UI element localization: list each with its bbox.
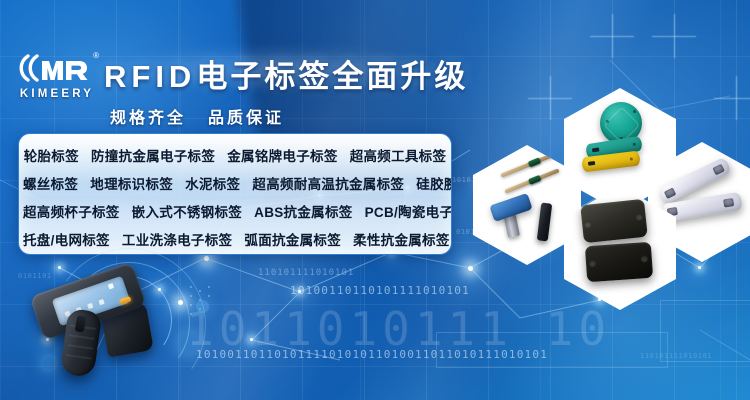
brand-wordmark: KIMEERY [14, 88, 100, 100]
sparkle-node [58, 266, 61, 269]
tag-item: 工业洗涤电子标签 [122, 233, 232, 248]
rf-wave-glint [178, 300, 183, 305]
product-tag-list-panel: 轮胎标签 防撞抗金属电子标签 金属铭牌电子标签 超高频工具标签 螺丝标签 地理标… [18, 133, 452, 255]
tag-chip [588, 161, 595, 166]
sparkle-node [698, 266, 701, 269]
tag-row: 轮胎标签 防撞抗金属电子标签 金属铭牌电子标签 超高频工具标签 [19, 143, 451, 171]
tag-row: 螺丝标签 地理标识标签 水泥标签 超高频耐高温抗金属标签 硅胶腕带 [19, 171, 451, 199]
glass-tag-core [528, 157, 541, 167]
tag-mount-hole [664, 187, 676, 199]
tag-item: 硅胶腕带 [416, 177, 452, 192]
tag-hole [630, 157, 633, 160]
grip-ridge [69, 334, 95, 340]
headline-cjk: 电子标签全面升级 [196, 59, 468, 94]
binary-strip-a: 1010011011010111101010110100110110101110… [196, 348, 548, 361]
tag-hole [633, 143, 636, 146]
tag-item: 轮胎标签 [24, 149, 79, 164]
binary-strip-c: 110101111010101 [258, 268, 354, 278]
rfid-promo-banner: 1011010111 10 10100110110101111010101101… [0, 0, 750, 400]
tag-item: 超高频杯子标签 [23, 205, 120, 220]
page-title: RFID电子标签全面升级 [104, 51, 468, 96]
tag-item: ABS抗金属标签 [254, 205, 352, 220]
tag-hole [633, 110, 636, 113]
dark-bar-tag [537, 202, 553, 241]
kmr-logomark-icon: ® [14, 52, 100, 86]
grip-ridge [67, 344, 93, 350]
binary-strip-b: 10100110110101111010101 [290, 284, 470, 297]
handheld-rfid-reader [28, 272, 178, 392]
subtitle-right: 品质保证 [208, 110, 284, 127]
tag-item: PCB/陶瓷电子标签 [365, 205, 452, 220]
glass-tag-core [528, 175, 541, 185]
tag-item: 超高频工具标签 [350, 149, 447, 164]
abs-anti-metal-tag [585, 242, 653, 283]
tag-hole [606, 120, 609, 123]
tag-mount-hole [584, 220, 592, 228]
tag-item: 嵌入式不锈钢标签 [132, 205, 242, 220]
tag-row: 托盘/电网标签 工业洗涤电子标签 弧面抗金属标签 柔性抗金属标签 [19, 227, 451, 255]
binary-strip-h: 110101111010101 [640, 352, 712, 360]
screen-app-icon [98, 299, 104, 305]
sparkle-node [468, 266, 473, 271]
tag-item: 金属铭牌电子标签 [227, 149, 337, 164]
tag-item: 托盘/电网标签 [23, 233, 110, 248]
tag-item: 地理标识标签 [90, 177, 173, 192]
tag-item: 弧面抗金属标签 [244, 233, 341, 248]
tag-item: 水泥标签 [185, 177, 240, 192]
tag-item: 防撞抗金属电子标签 [91, 149, 215, 164]
screen-status-icon [108, 283, 114, 289]
tag-mount-hole [641, 255, 648, 262]
subtitle: 规格齐全品质保证 [110, 104, 284, 128]
headline-ascii: RFID [104, 59, 196, 94]
kmr-logomark-svg [18, 52, 96, 84]
tag-row: 超高频杯子标签 嵌入式不锈钢标签 ABS抗金属标签 PCB/陶瓷电子标签 [19, 199, 451, 227]
tag-item: 螺丝标签 [23, 177, 78, 192]
brand-logo: ® KIMEERY [14, 52, 100, 100]
tag-mount-hole [635, 213, 643, 221]
tag-mount-hole [589, 260, 596, 267]
tag-item: 柔性抗金属标签 [353, 233, 450, 248]
screen-app-icon [87, 303, 93, 309]
tag-item: 超高频耐高温抗金属标签 [252, 177, 404, 192]
abs-anti-metal-tag [580, 199, 648, 243]
sparkle-node [204, 256, 209, 261]
tag-mount-hole [712, 164, 724, 176]
tag-mount-hole [723, 198, 734, 207]
grip-ridge [66, 354, 92, 360]
tag-chip [592, 147, 600, 152]
subtitle-left: 规格齐全 [110, 110, 186, 127]
